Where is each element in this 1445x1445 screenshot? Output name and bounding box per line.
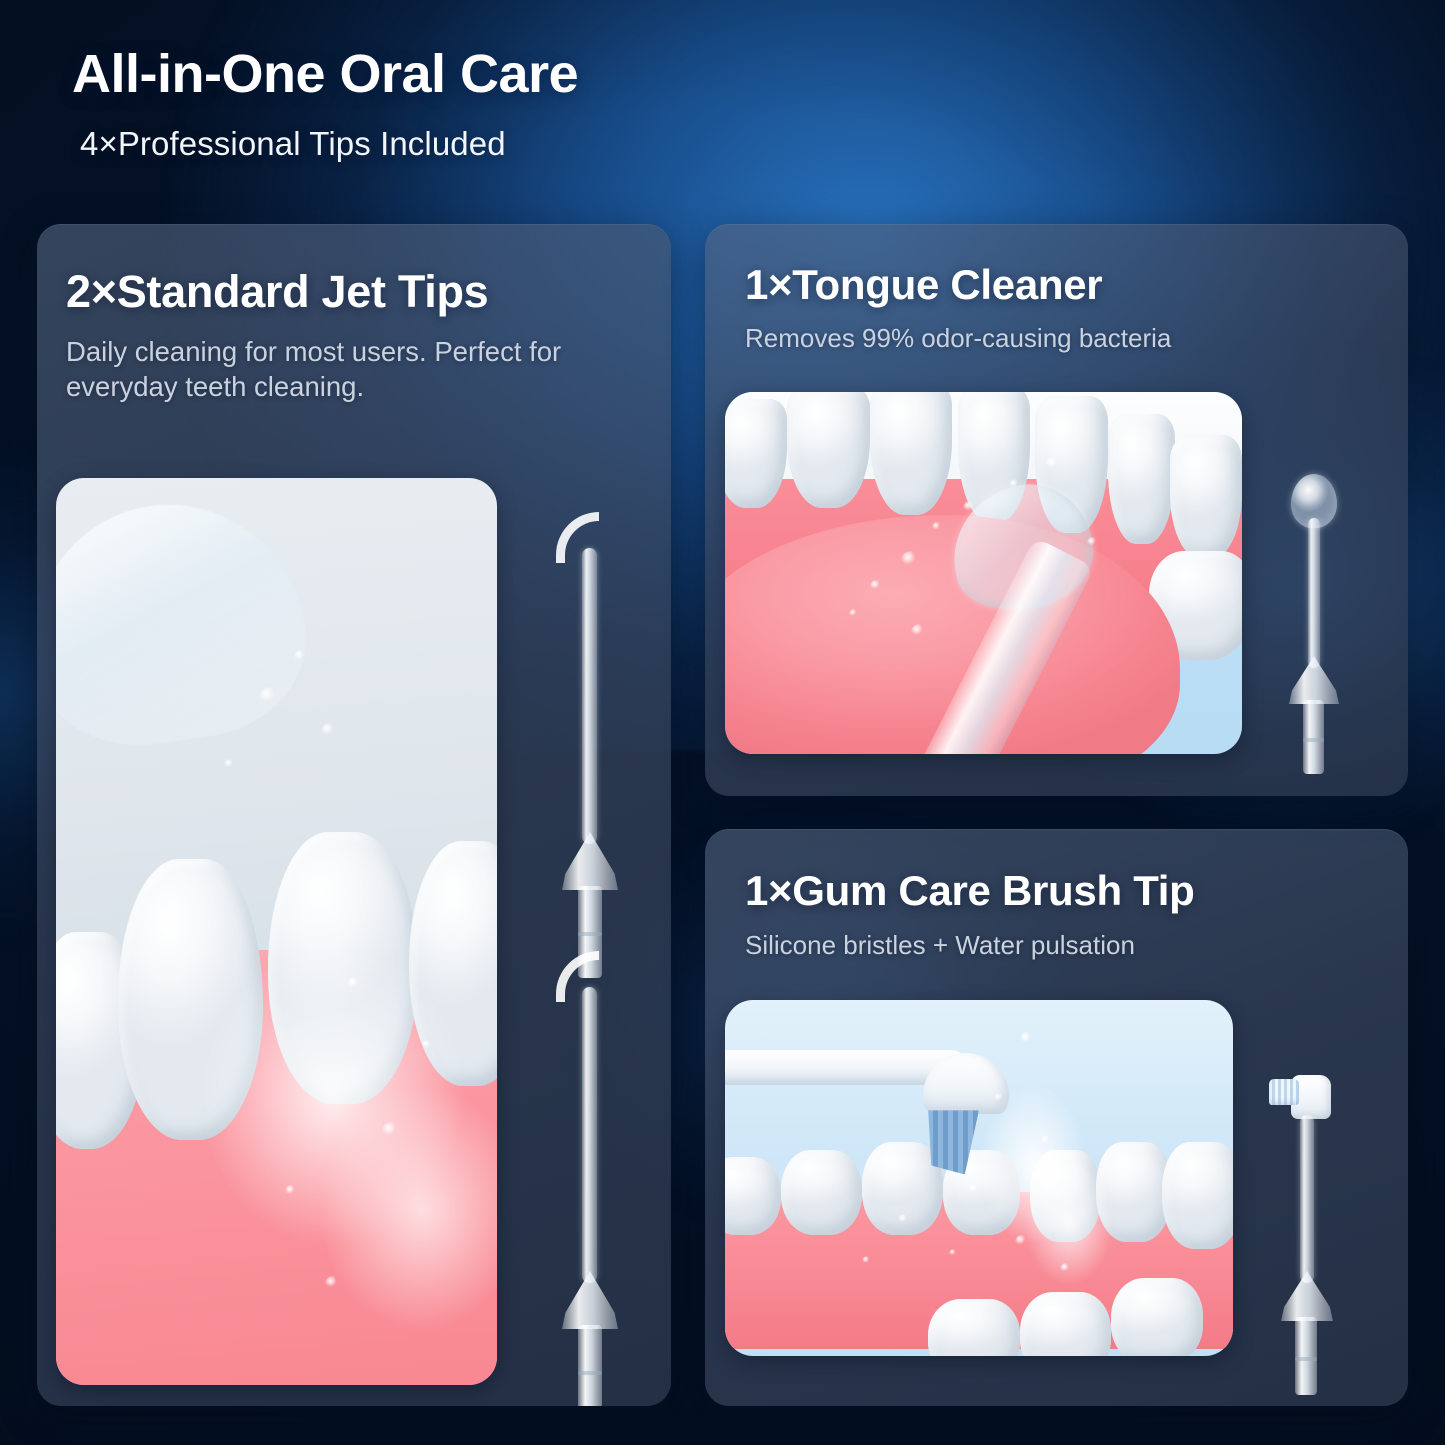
photo-jet-cleaning: [56, 478, 497, 1385]
tooth: [1111, 1278, 1202, 1356]
jet-tip-nozzle-icon: [542, 951, 622, 1351]
water-bubble: [911, 624, 927, 640]
card-title: 1×Tongue Cleaner: [745, 261, 1102, 309]
infographic-canvas: All-in-One Oral Care 4×Professional Tips…: [0, 0, 1445, 1445]
page-subtitle: 4×Professional Tips Included: [80, 125, 932, 163]
tooth: [725, 1157, 781, 1235]
water-bubble: [949, 1249, 958, 1258]
nozzle-stem: [1300, 1115, 1314, 1283]
water-bubble: [901, 551, 921, 571]
nozzle-base: [1303, 700, 1324, 774]
brush-bristles: [1269, 1079, 1299, 1105]
water-bubble: [1015, 1235, 1029, 1249]
tongue-cleaner-tip-icon: [1277, 474, 1357, 774]
card-subtitle: Silicone bristles + Water pulsation: [745, 929, 1135, 962]
card-subtitle: Removes 99% odor-causing bacteria: [745, 322, 1171, 355]
water-bubble: [994, 1093, 1005, 1104]
water-bubble: [1020, 1032, 1035, 1047]
water-bubble: [1087, 537, 1099, 549]
card-standard-jet-tips[interactable]: 2×Standard Jet Tips Daily cleaning for m…: [37, 224, 671, 1406]
card-title: 1×Gum Care Brush Tip: [745, 867, 1195, 915]
tooth: [1162, 1142, 1233, 1249]
page-title: All-in-One Oral Care: [72, 46, 932, 103]
tooth: [1020, 1292, 1111, 1356]
photo-tongue-cleaning: [725, 392, 1242, 754]
tooth: [1108, 414, 1175, 544]
water-bubble: [898, 1214, 910, 1226]
photo-gum-brushing: [725, 1000, 1233, 1356]
water-bubble: [969, 1185, 979, 1195]
tooth: [1170, 435, 1242, 558]
nozzle-base: [578, 1325, 602, 1406]
water-jet-stream: [56, 487, 318, 759]
card-tongue-cleaner[interactable]: 1×Tongue Cleaner Removes 99% odor-causin…: [705, 224, 1408, 796]
water-bubble: [259, 687, 281, 709]
nozzle-ring: [1303, 738, 1324, 742]
nozzle-ring: [578, 932, 602, 936]
nozzle-collar: [1281, 1271, 1333, 1321]
tooth: [781, 1150, 862, 1235]
water-bubble: [321, 723, 338, 740]
jet-tip-nozzle-icon: [542, 512, 622, 912]
water-bubble: [963, 501, 977, 515]
gum-brush-tip-icon: [1267, 1075, 1357, 1395]
water-pulsation-spray: [949, 1078, 1132, 1284]
card-subtitle: Daily cleaning for most users. Perfect f…: [66, 334, 636, 404]
water-bubble: [1046, 457, 1061, 472]
nozzle-stem: [1308, 518, 1320, 668]
card-gum-care-brush-tip[interactable]: 1×Gum Care Brush Tip Silicone bristles +…: [705, 829, 1408, 1406]
card-title: 2×Standard Jet Tips: [66, 266, 488, 318]
header-block: All-in-One Oral Care 4×Professional Tips…: [72, 46, 932, 163]
tooth: [787, 392, 870, 508]
water-bubble: [294, 650, 308, 664]
nozzle-base: [1295, 1317, 1317, 1395]
tooth: [870, 392, 953, 515]
nozzle-collar: [1289, 656, 1339, 704]
nozzle-ring: [578, 1371, 602, 1375]
nozzle-collar: [562, 1271, 618, 1329]
nozzle-stem: [582, 987, 597, 1283]
water-spray: [206, 950, 497, 1367]
water-bubble: [870, 580, 883, 593]
tooth: [928, 1299, 1019, 1356]
nozzle-collar: [562, 832, 618, 890]
nozzle-stem: [582, 548, 597, 844]
nozzle-ring: [1295, 1357, 1317, 1361]
water-bubble: [347, 977, 362, 992]
water-bubble: [224, 759, 236, 771]
